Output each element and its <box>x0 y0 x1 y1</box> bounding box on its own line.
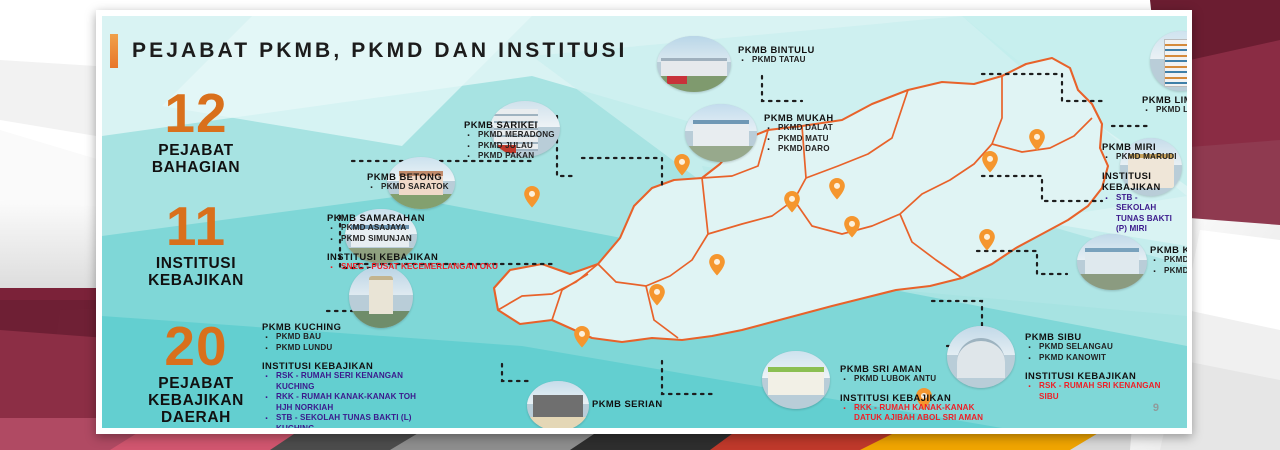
institution-line: KUCHING <box>276 424 416 428</box>
block-item: PKMD LAWAS <box>1142 105 1187 116</box>
slide-canvas: PEJABAT PKMB, PKMD DAN INSTITUSI 12 PEJA… <box>102 16 1187 428</box>
institution-line: (P) MIRI <box>1116 224 1177 235</box>
block-item: PKMD ASAJAYA <box>327 223 498 234</box>
institution-item: SNEC - PUSAT KECEMERLANGAN OKU <box>327 262 498 273</box>
block-heading: PKMB SAMARAHAN <box>327 212 498 223</box>
block-heading: PKMB SERIAN <box>592 398 663 409</box>
block-item: PKMD KANOWIT <box>1025 353 1161 364</box>
block-item: PKMD MERADONG <box>464 130 555 141</box>
institution-heading-line2: KEBAJIKAN <box>1102 181 1177 192</box>
block-heading: PKMB SARIKEI <box>464 119 555 130</box>
info-block-limbang: PKMB LIMBANG PKMD LAWAS <box>1142 94 1187 116</box>
block-item: PKMD LUNDU <box>262 343 416 354</box>
block-heading: PKMB SRI AMAN <box>840 363 983 374</box>
block-item: PKMD SIMUNJAN <box>327 234 498 245</box>
block-item: PKMD PAKAN <box>464 151 555 162</box>
institution-line: RKK - RUMAH KANAK-KANAK TOH <box>276 392 416 401</box>
block-item: PKMD SARATOK <box>367 182 449 193</box>
institution-heading: INSTITUSI KEBAJIKAN <box>1025 370 1161 381</box>
photo-kapit <box>1077 234 1147 290</box>
institution-line: RSK - RUMAH SERI KENANGAN <box>276 371 403 380</box>
block-heading: PKMB BINTULU <box>738 44 815 55</box>
institution-line: STB - <box>1116 193 1138 202</box>
info-block-samarahan: PKMB SAMARAHAN PKMD ASAJAYA PKMD SIMUNJA… <box>327 212 498 273</box>
block-heading: PKMB SIBU <box>1025 331 1161 342</box>
info-block-serian: PKMB SERIAN <box>592 398 663 409</box>
institution-heading-line1: INSTITUSI <box>1102 170 1177 181</box>
block-heading: PKMB MIRI <box>1102 141 1177 152</box>
info-block-mukah: PKMB MUKAH PKMD DALAT PKMD MATU PKMD DAR… <box>764 112 834 155</box>
info-block-betong: PKMB BETONG PKMD SARATOK <box>367 171 449 193</box>
block-item: PKMD MARUDI <box>1102 152 1177 163</box>
block-item: PKMD MATU <box>764 134 834 145</box>
block-item: PKMD TATAU <box>738 55 815 66</box>
block-item: PKMD DALAT <box>764 123 834 134</box>
institution-line: RSK - RUMAH SRI KENANGAN <box>1039 381 1161 390</box>
photo-mukah <box>685 104 757 162</box>
institution-line: SIBU <box>1039 392 1161 403</box>
institution-heading: INSTITUSI KEBAJIKAN <box>840 392 983 403</box>
institution-heading: INSTITUSI KEBAJIKAN <box>262 360 416 371</box>
institution-item: STB - SEKOLAH TUNAS BAKTI (P) MIRI <box>1102 193 1177 235</box>
info-block-kuching: PKMB KUCHING PKMD BAU PKMD LUNDU INSTITU… <box>262 321 416 428</box>
institution-item: RSK - RUMAH SRI KENANGAN SIBU <box>1025 381 1161 402</box>
block-item: PKMD LUBOK ANTU <box>840 374 983 385</box>
info-block-kapit: PKMB KAPIT PKMD SONG PKMD BELAGA <box>1150 244 1187 276</box>
block-item: PKMD JULAU <box>464 141 555 152</box>
slide-stage: PEJABAT PKMB, PKMD DAN INSTITUSI 12 PEJA… <box>0 0 1280 450</box>
institution-item: RSK - RUMAH SERI KENANGAN KUCHING <box>262 371 416 392</box>
info-block-miri: PKMB MIRI PKMD MARUDI INSTITUSI KEBAJIKA… <box>1102 141 1177 235</box>
block-item: PKMD BAU <box>262 332 416 343</box>
block-heading: PKMB KUCHING <box>262 321 416 332</box>
info-block-sri-aman: PKMB SRI AMAN PKMD LUBOK ANTU INSTITUSI … <box>840 363 983 424</box>
institution-line: RKK - RUMAH KANAK-KANAK <box>854 403 975 412</box>
institution-item: RKK - RUMAH KANAK-KANAK DATUK AJIBAH ABO… <box>840 403 983 424</box>
block-heading: PKMB MUKAH <box>764 112 834 123</box>
institution-line: HJH NORKIAH <box>276 403 416 414</box>
institution-item: STB - SEKOLAH TUNAS BAKTI (L) KUCHING <box>262 413 416 428</box>
info-block-bintulu: PKMB BINTULU PKMD TATAU <box>738 44 815 66</box>
slide-card: PEJABAT PKMB, PKMD DAN INSTITUSI 12 PEJA… <box>96 10 1192 434</box>
block-heading: PKMB BETONG <box>367 171 449 182</box>
institution-line: KUCHING <box>276 382 416 393</box>
info-block-sibu: PKMB SIBU PKMD SELANGAU PKMD KANOWIT INS… <box>1025 331 1161 402</box>
institution-line: STB - SEKOLAH TUNAS BAKTI (L) <box>276 413 412 422</box>
photo-serian <box>527 381 589 428</box>
institution-item: RKK - RUMAH KANAK-KANAK TOH HJH NORKIAH <box>262 392 416 413</box>
institution-heading: INSTITUSI KEBAJIKAN <box>327 251 498 262</box>
page-number: 9 <box>1153 402 1159 414</box>
institution-line: SEKOLAH <box>1116 203 1177 214</box>
institution-line: TUNAS BAKTI <box>1116 214 1177 225</box>
info-block-sarikei: PKMB SARIKEI PKMD MERADONG PKMD JULAU PK… <box>464 119 555 162</box>
photo-kuching <box>349 266 413 328</box>
block-item: PKMD SELANGAU <box>1025 342 1161 353</box>
photo-bintulu <box>657 36 731 92</box>
block-item: PKMD BELAGA <box>1150 266 1187 277</box>
institution-line: DATUK AJIBAH ABOL SRI AMAN <box>854 413 983 424</box>
block-item: PKMD DARO <box>764 144 834 155</box>
photo-sri-aman <box>762 351 830 409</box>
